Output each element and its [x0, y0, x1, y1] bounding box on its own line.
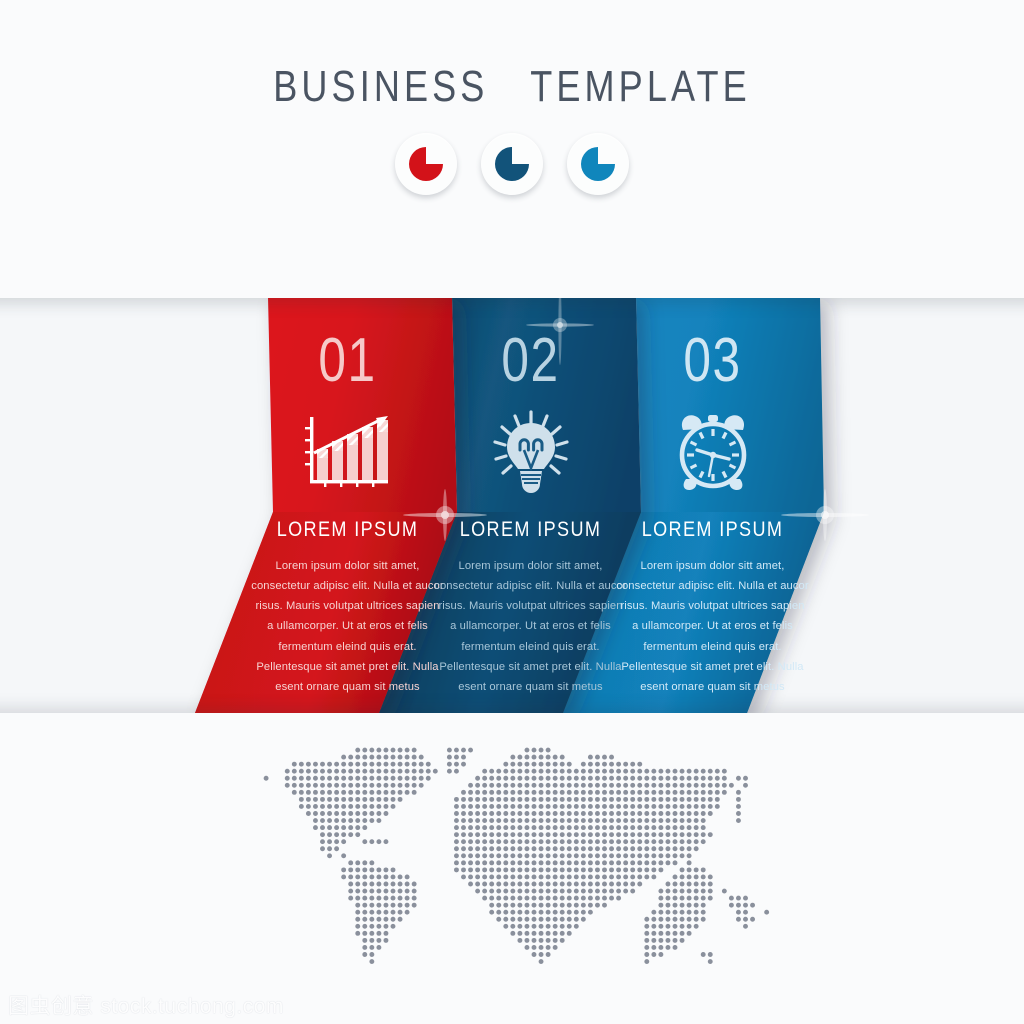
pie-badge-light-blue[interactable] [567, 133, 629, 195]
pie-slice-light-blue [581, 147, 615, 181]
bottom-band [0, 713, 1024, 1024]
header-band: BUSINESS TEMPLATE [0, 0, 1024, 298]
pie-slice-red [409, 147, 443, 181]
watermark: 图虫创意 stock.tuchong.com [8, 990, 284, 1020]
pie-badge-row [0, 133, 1024, 195]
pie-badge-red[interactable] [395, 133, 457, 195]
infographic-canvas: 01 [0, 0, 1024, 1024]
page-title: BUSINESS TEMPLATE [76, 0, 948, 112]
pie-slice-dark-blue [495, 147, 529, 181]
pie-badge-dark-blue[interactable] [481, 133, 543, 195]
